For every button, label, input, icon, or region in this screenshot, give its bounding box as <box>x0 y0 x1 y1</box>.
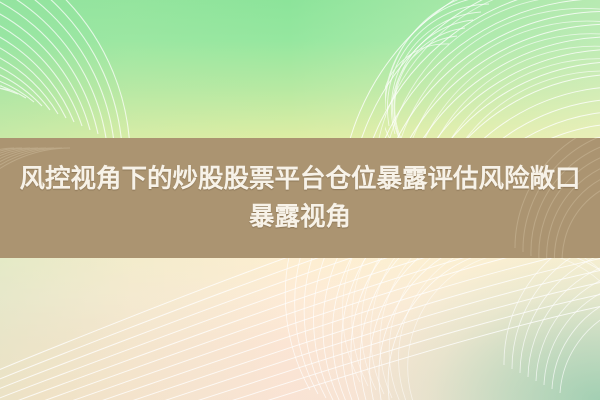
title-line-2: 暴露视角 <box>10 198 590 236</box>
title-text-block: 风控视角下的炒股股票平台仓位暴露评估风险敞口 暴露视角 <box>0 160 600 236</box>
title-band: 风控视角下的炒股股票平台仓位暴露评估风险敞口 暴露视角 <box>0 138 600 258</box>
decorative-title-banner: 风控视角下的炒股股票平台仓位暴露评估风险敞口 暴露视角 <box>0 0 600 400</box>
title-line-1: 风控视角下的炒股股票平台仓位暴露评估风险敞口 <box>10 160 590 198</box>
